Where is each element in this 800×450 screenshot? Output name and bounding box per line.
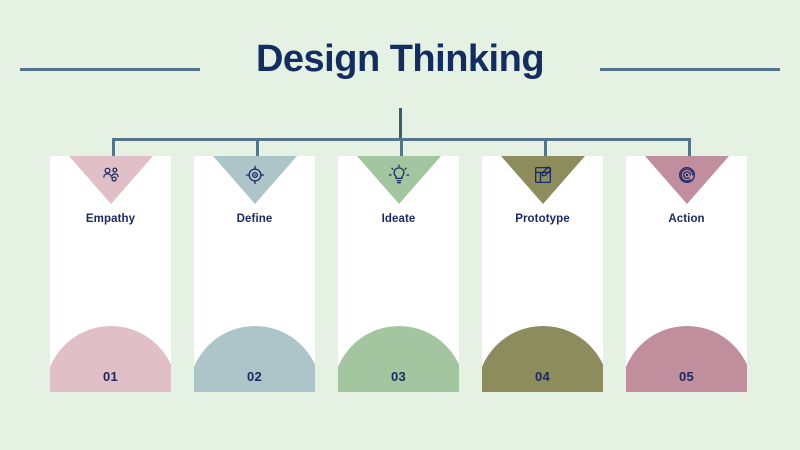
step-number: 01 (50, 369, 171, 384)
design-thinking-slide: Design Thinking Empathy 01 (0, 0, 800, 450)
connector-drop-4 (544, 138, 547, 158)
connector-drop-3 (400, 138, 403, 158)
step-number-dome: 05 (626, 326, 747, 392)
step-card-empathy[interactable]: Empathy 01 (50, 156, 171, 392)
step-label: Prototype (482, 213, 603, 225)
step-card-define[interactable]: Define 02 (194, 156, 315, 392)
page-title: Design Thinking (0, 40, 800, 78)
step-number: 05 (626, 369, 747, 384)
step-number-dome: 03 (338, 326, 459, 392)
step-card-action[interactable]: Action 05 (626, 156, 747, 392)
step-card-prototype[interactable]: Prototype 04 (482, 156, 603, 392)
step-number-dome: 01 (50, 326, 171, 392)
step-label: Ideate (338, 213, 459, 225)
step-label: Action (626, 213, 747, 225)
step-label: Define (194, 213, 315, 225)
connector-drop-2 (256, 138, 259, 158)
wireframe-sketch-icon (532, 164, 554, 186)
connector-drop-5 (688, 138, 691, 158)
users-group-icon (100, 164, 122, 186)
step-number-dome: 02 (194, 326, 315, 392)
step-number-dome: 04 (482, 326, 603, 392)
spiral-target-icon (676, 164, 698, 186)
step-card-ideate[interactable]: Ideate 03 (338, 156, 459, 392)
step-label: Empathy (50, 213, 171, 225)
step-number: 04 (482, 369, 603, 384)
lightbulb-idea-icon (388, 164, 410, 186)
connector-stem (399, 108, 402, 141)
connector-drop-1 (112, 138, 115, 158)
target-crosshair-icon (244, 164, 266, 186)
step-number: 03 (338, 369, 459, 384)
step-number: 02 (194, 369, 315, 384)
